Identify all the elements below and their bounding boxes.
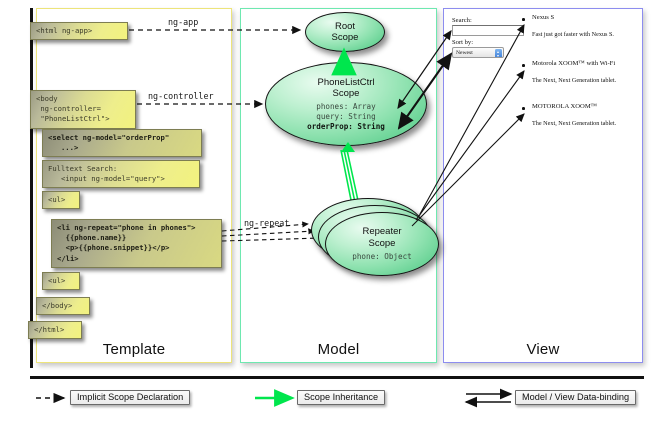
view-search-label: Search:: [452, 17, 472, 24]
template-box-html-close[interactable]: </html>: [28, 321, 82, 339]
chevron-updown-icon[interactable]: [495, 49, 502, 58]
scope-root-title: RootScope: [332, 21, 359, 43]
prop-orderprop: orderProp: String: [307, 122, 385, 131]
scope-root[interactable]: RootScope: [305, 12, 385, 52]
legend-item-model-view-data-binding: Model / View Data-binding: [515, 390, 636, 405]
list-bullet-icon: [522, 107, 525, 110]
edge-label-ng-app: ng-app: [168, 17, 198, 27]
view-sort-label: Sort by:: [452, 39, 473, 46]
left-vertical-rule: [30, 8, 33, 368]
view-search-input[interactable]: [452, 25, 524, 36]
view-sort-selected-value: Newest: [456, 50, 473, 56]
view-phone-snippet-2: The Next, Next Generation tablet.: [532, 120, 616, 127]
legend-divider: [30, 376, 644, 379]
list-bullet-icon: [522, 18, 525, 21]
prop-phone: phone: Object: [352, 252, 411, 262]
scope-phonelistctrl[interactable]: PhoneListCtrlScope phones: Array query: …: [265, 62, 427, 146]
view-sort-select[interactable]: Newest: [452, 47, 504, 58]
prop-query: query: String: [307, 112, 385, 122]
diagram-canvas: Template <html ng-app> <body ng-controll…: [0, 0, 661, 425]
scope-phonelistctrl-title: PhoneListCtrlScope: [317, 77, 374, 99]
model-panel-label: Model: [241, 341, 436, 358]
template-box-search-input[interactable]: Fulltext Search: <input ng-model="query"…: [42, 160, 200, 188]
scope-phonelistctrl-props: phones: Array query: String orderProp: S…: [307, 102, 385, 132]
template-box-select-tag[interactable]: <select ng-model="orderProp" ...>: [42, 129, 202, 157]
scope-repeater-props: phone: Object: [352, 252, 411, 262]
edge-label-ng-controller: ng-controller: [148, 91, 214, 101]
view-phone-snippet-0: Fast just got faster with Nexus S.: [532, 31, 614, 38]
list-bullet-icon: [522, 64, 525, 67]
view-panel-label: View: [444, 341, 642, 358]
view-phone-name-1[interactable]: Motorola XOOM™ with Wi-Fi: [532, 60, 615, 67]
scope-repeater[interactable]: RepeaterScope phone: Object: [325, 212, 439, 276]
template-box-html-tag[interactable]: <html ng-app>: [30, 22, 128, 40]
template-box-ul-close[interactable]: <ul>: [42, 272, 80, 290]
template-box-body-tag[interactable]: <body ng-controller= "PhoneListCtrl">: [30, 90, 136, 129]
template-box-body-close[interactable]: </body>: [36, 297, 90, 315]
view-phone-name-0[interactable]: Nexus S: [532, 14, 554, 21]
edge-label-ng-repeat: ng-repeat: [244, 218, 289, 228]
legend-item-scope-inheritance: Scope Inheritance: [297, 390, 385, 405]
prop-phones: phones: Array: [307, 102, 385, 112]
view-phone-name-2[interactable]: MOTOROLA XOOM™: [532, 103, 597, 110]
view-phone-snippet-1: The Next, Next Generation tablet.: [532, 77, 616, 84]
template-panel-label: Template: [37, 341, 231, 358]
scope-repeater-title: RepeaterScope: [362, 226, 401, 248]
template-box-ul-open[interactable]: <ul>: [42, 191, 80, 209]
legend-item-implicit-scope-declaration: Implicit Scope Declaration: [70, 390, 190, 405]
template-box-li-repeat[interactable]: <li ng-repeat="phone in phones"> {{phone…: [51, 219, 222, 268]
